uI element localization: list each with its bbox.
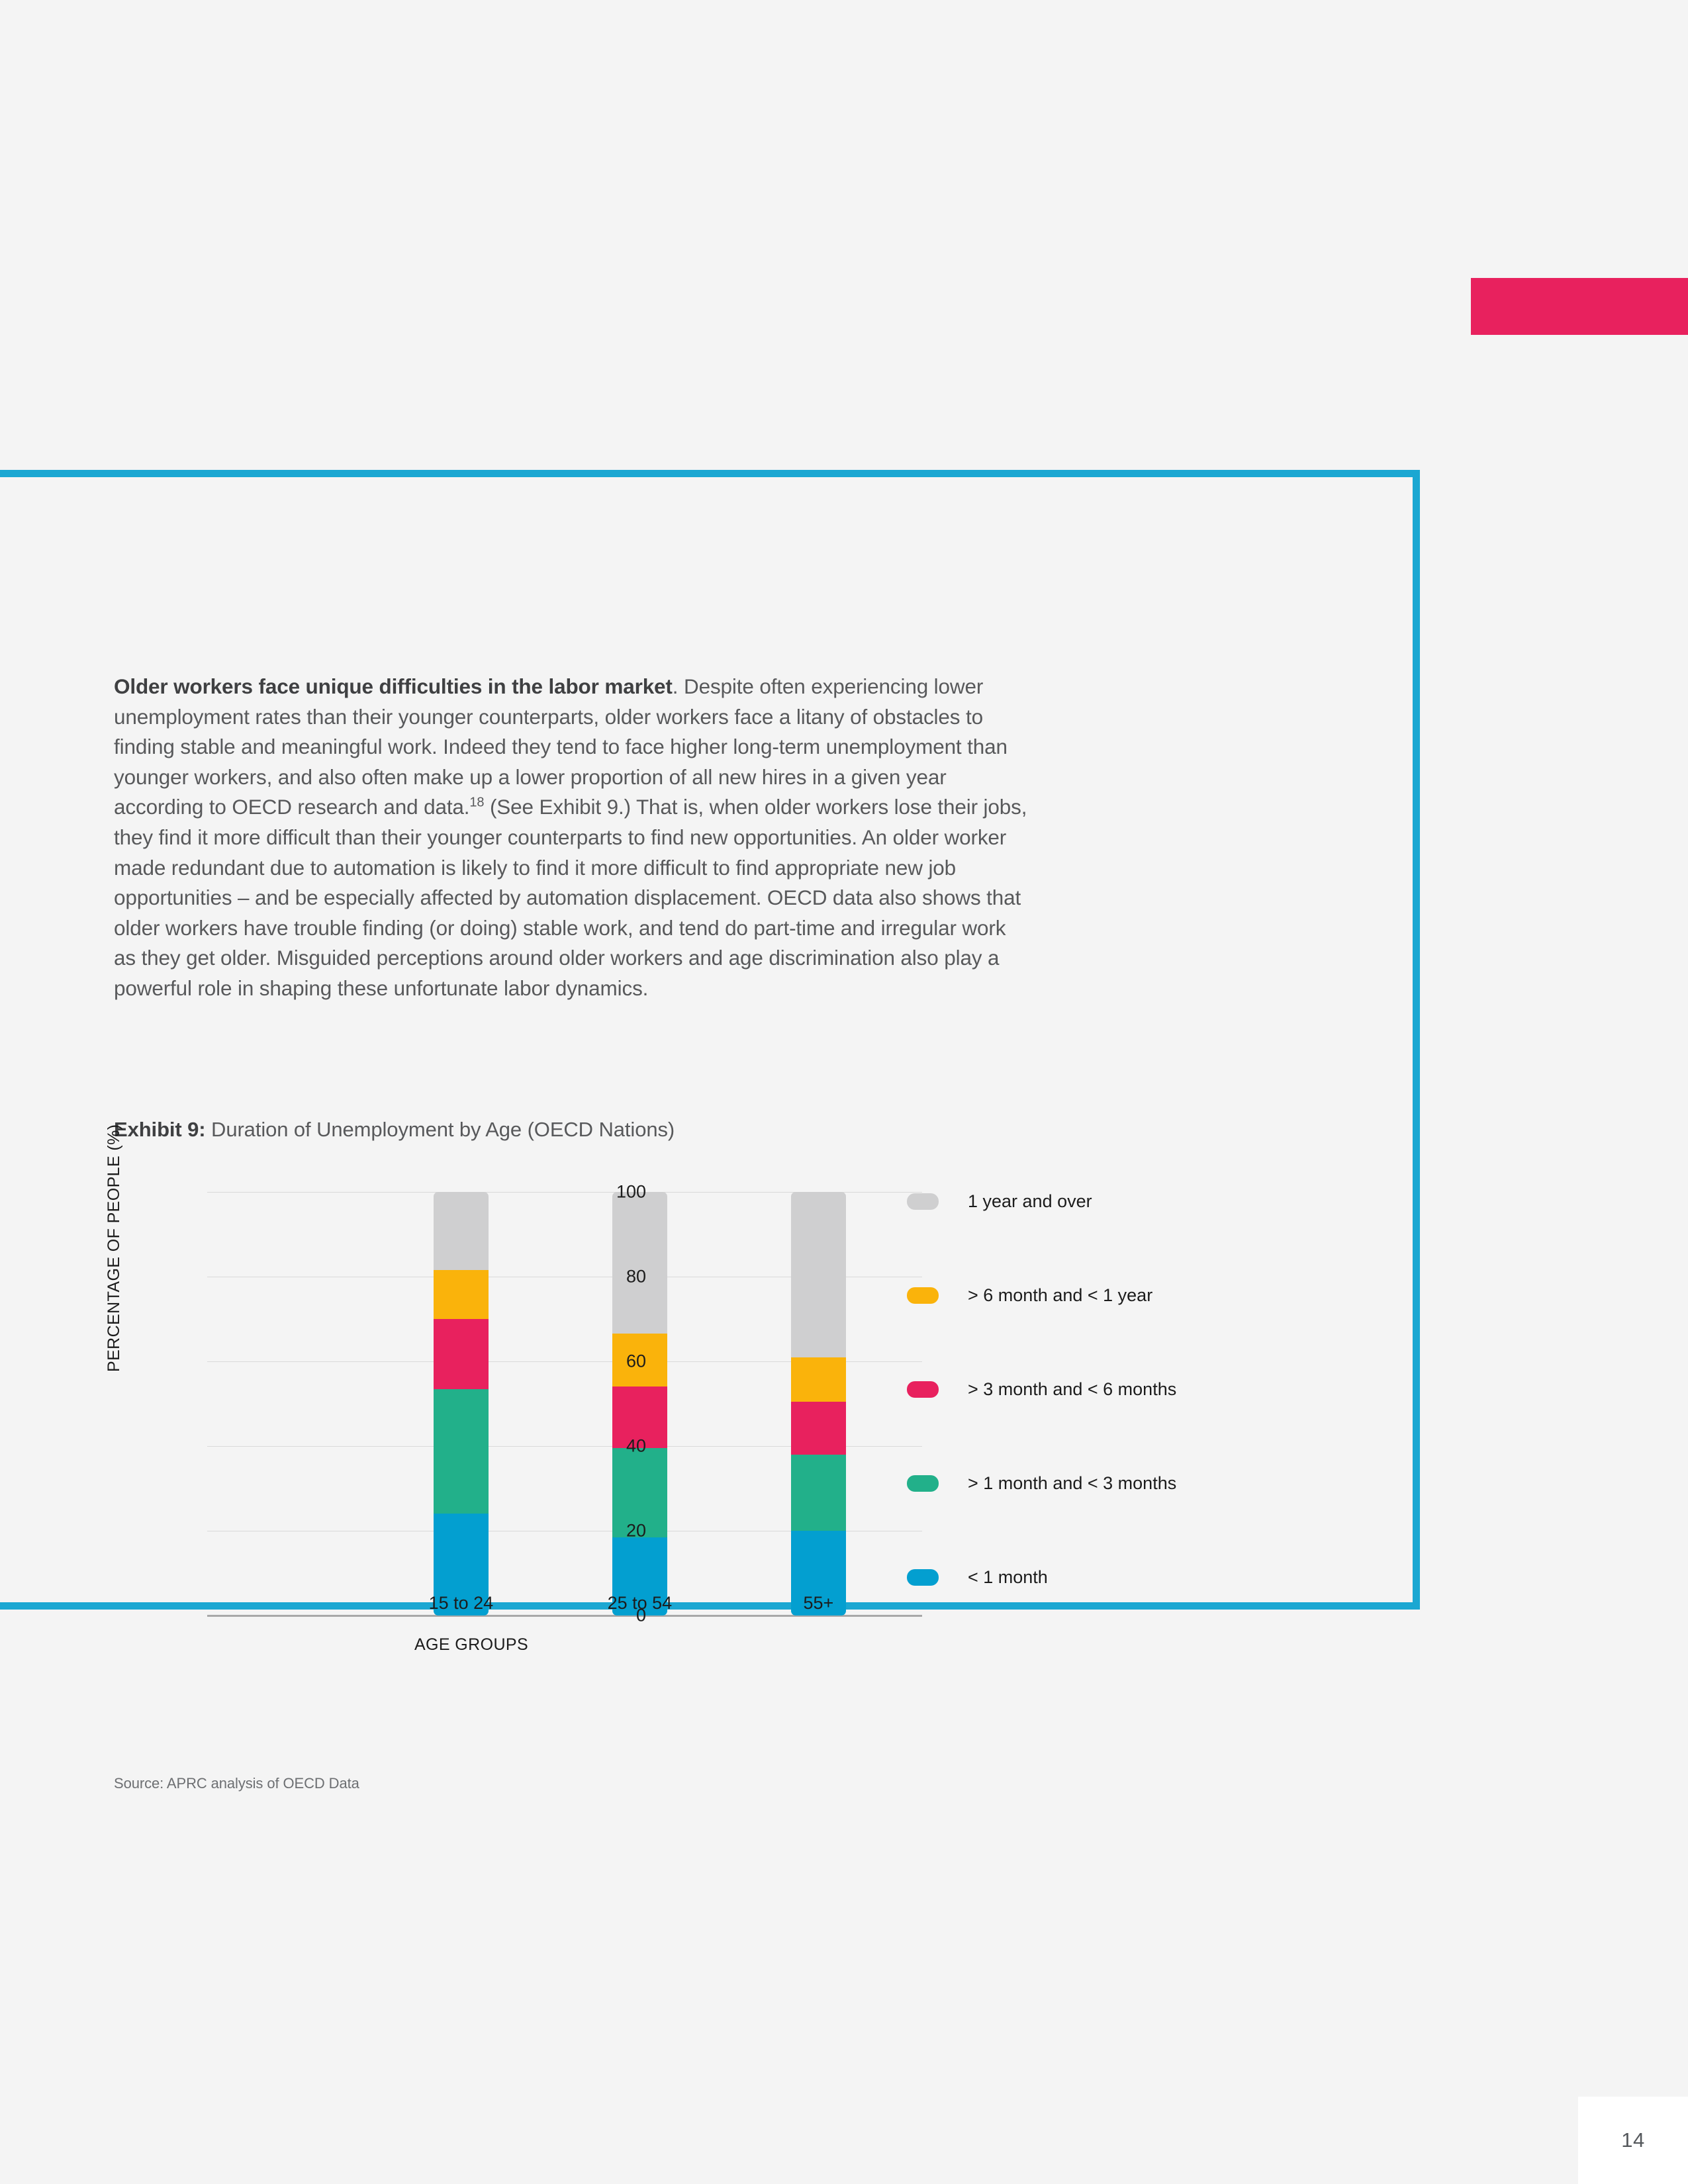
legend-item[interactable]: > 6 month and < 1 year (907, 1285, 1152, 1306)
page-number-box: 14 (1578, 2097, 1688, 2184)
legend-label: > 3 month and < 6 months (968, 1379, 1176, 1400)
y-axis-tick-label: 100 (616, 1182, 646, 1203)
page-number: 14 (1621, 2128, 1644, 2152)
x-axis-tick-label: 15 to 24 (429, 1593, 494, 1614)
legend-label: < 1 month (968, 1567, 1048, 1588)
exhibit-label: Exhibit 9: (114, 1118, 206, 1141)
legend-item[interactable]: > 3 month and < 6 months (907, 1379, 1176, 1400)
bar-segment (791, 1192, 846, 1357)
legend-swatch-icon (907, 1475, 939, 1492)
bar-15-to-24 (434, 1192, 489, 1615)
legend-item[interactable]: 1 year and over (907, 1191, 1092, 1212)
exhibit-source-note: Source: APRC analysis of OECD Data (114, 1775, 359, 1792)
y-axis-tick-label: 80 (626, 1267, 646, 1287)
y-axis-tick-label: 60 (626, 1351, 646, 1372)
bar-segment (434, 1319, 489, 1389)
x-axis-tick-label: 25 to 54 (608, 1593, 673, 1614)
bar-segment (791, 1357, 846, 1402)
bar-segment (434, 1389, 489, 1514)
bar-segment (612, 1192, 667, 1334)
x-axis-tick-label: 55+ (803, 1593, 833, 1614)
exhibit-caption: Duration of Unemployment by Age (OECD Na… (206, 1118, 675, 1141)
chart-legend: 1 year and over> 6 month and < 1 year> 3… (907, 1191, 1317, 1602)
pink-accent-tab (1471, 278, 1688, 335)
x-axis-title: AGE GROUPS (414, 1635, 528, 1655)
bar-25-to-54 (612, 1192, 667, 1615)
legend-item[interactable]: < 1 month (907, 1567, 1048, 1588)
y-axis-title: PERCENTAGE OF PEOPLE (%) (105, 1124, 124, 1372)
bar-segment (434, 1270, 489, 1319)
paragraph-text-part2: (See Exhibit 9.) That is, when older wor… (114, 795, 1027, 1000)
legend-label: > 1 month and < 3 months (968, 1473, 1176, 1494)
body-paragraph: Older workers face unique difficulties i… (114, 672, 1027, 1004)
legend-swatch-icon (907, 1569, 939, 1586)
y-axis-tick-label: 40 (626, 1436, 646, 1457)
bar-55+ (791, 1192, 846, 1615)
legend-item[interactable]: > 1 month and < 3 months (907, 1473, 1176, 1494)
bar-segment (791, 1402, 846, 1455)
legend-swatch-icon (907, 1381, 939, 1398)
paragraph-lead-bold: Older workers face unique difficulties i… (114, 674, 673, 698)
legend-swatch-icon (907, 1287, 939, 1304)
bar-segment (791, 1455, 846, 1531)
bar-segment (434, 1192, 489, 1270)
chart-plot-area (207, 1192, 922, 1615)
exhibit-title: Exhibit 9: Duration of Unemployment by A… (114, 1118, 1041, 1142)
y-axis-tick-label: 20 (626, 1521, 646, 1541)
footnote-marker: 18 (469, 796, 484, 810)
legend-label: > 6 month and < 1 year (968, 1285, 1152, 1306)
legend-swatch-icon (907, 1193, 939, 1210)
legend-label: 1 year and over (968, 1191, 1092, 1212)
